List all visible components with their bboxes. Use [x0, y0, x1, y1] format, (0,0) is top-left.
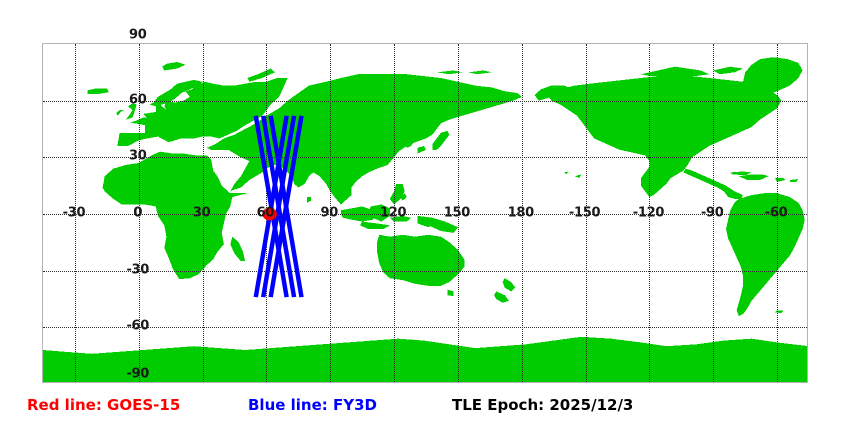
lon-tick-label-60: 60: [257, 207, 275, 220]
lat-tick-label-60: 60: [129, 93, 147, 106]
hawaii: [564, 172, 581, 179]
legend-red-line: Red line: GOES-15: [27, 396, 180, 414]
africa: [103, 152, 248, 280]
lon-tick-label-150: 150: [444, 207, 470, 220]
svalbard: [162, 62, 185, 71]
canadian-arctic: [641, 67, 743, 76]
madagascar: [230, 237, 245, 262]
lon-tick-label--30: -30: [63, 207, 86, 220]
lon-tick-label--90: -90: [701, 207, 724, 220]
falklands: [775, 310, 784, 313]
antarctica: [43, 337, 807, 382]
australia: [377, 235, 464, 286]
sri-lanka: [307, 197, 311, 203]
lat-tick-label--90: -90: [126, 368, 149, 381]
lat-tick-label-90: 90: [129, 29, 147, 42]
lat-tick-label--60: -60: [126, 320, 149, 333]
lon-tick-label-30: 30: [193, 207, 211, 220]
philippines: [390, 184, 407, 205]
lon-tick-label--120: -120: [633, 207, 664, 220]
iceland: [88, 88, 109, 94]
caribbean: [739, 174, 799, 182]
novaya-zemlya: [247, 69, 275, 82]
new-zealand: [494, 278, 515, 303]
world-map-frame: [42, 43, 808, 383]
satellite-ground-track-map: -300306090120150180-150-120-90-609060300…: [0, 0, 850, 425]
lon-tick-label-180: 180: [508, 207, 534, 220]
siberian-islands: [437, 70, 492, 74]
legend: Red line: GOES-15 Blue line: FY3D TLE Ep…: [0, 392, 850, 420]
lat-tick-label-30: 30: [129, 150, 147, 163]
map-canvas: [43, 44, 807, 382]
tasmania: [447, 290, 453, 297]
cuba: [730, 172, 751, 176]
lon-tick-label--150: -150: [569, 207, 600, 220]
lat-tick-label-0: 0: [133, 207, 142, 220]
legend-tle-epoch: TLE Epoch: 2025/12/3: [452, 396, 633, 414]
lat-tick-label--30: -30: [126, 263, 149, 276]
lon-tick-label-120: 120: [380, 207, 406, 220]
landmass-layer: [43, 44, 807, 382]
lon-tick-label-90: 90: [321, 207, 339, 220]
legend-blue-line: Blue line: FY3D: [248, 396, 377, 414]
lon-tick-label--60: -60: [765, 207, 788, 220]
